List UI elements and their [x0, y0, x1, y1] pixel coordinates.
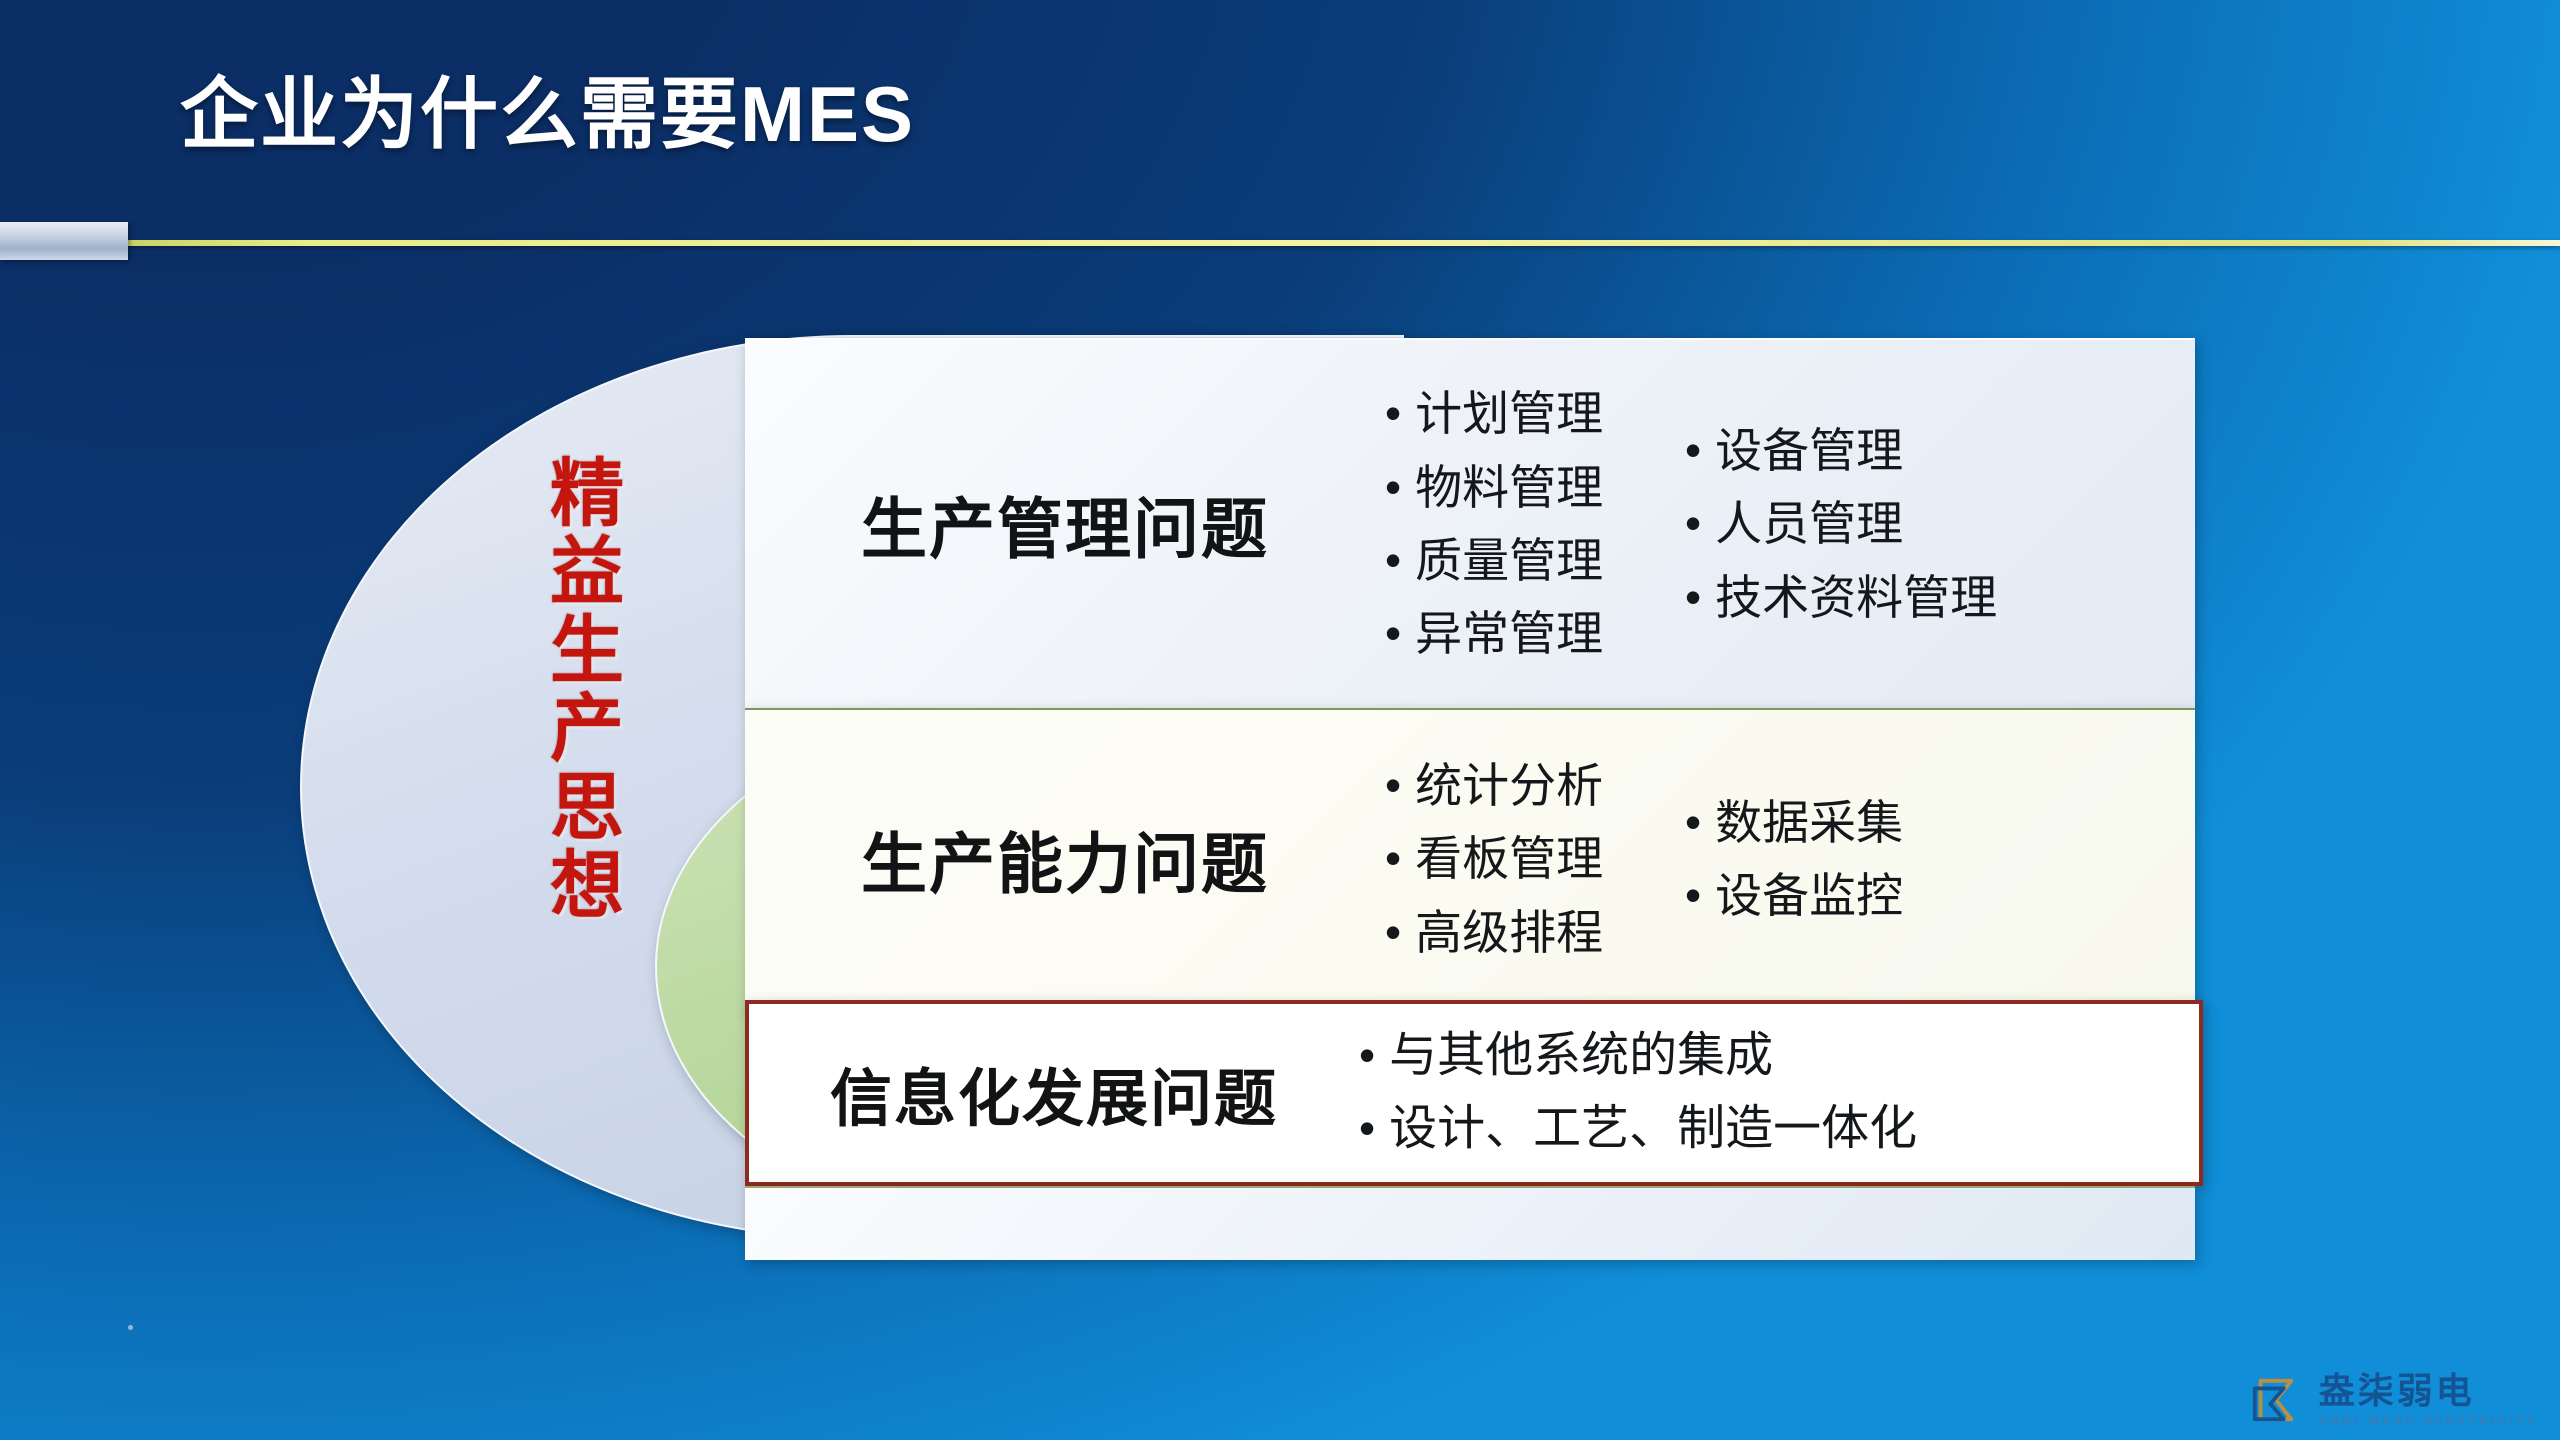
vertical-caption-char: 生	[522, 612, 652, 690]
page-title: 企业为什么需要MES	[180, 52, 915, 164]
list-item-label: 设计、工艺、制造一体化	[1389, 1101, 1917, 1158]
base-strip	[745, 1186, 2195, 1260]
list-item: •技术资料管理	[1685, 570, 2175, 625]
list-item: •异常管理	[1385, 606, 1685, 661]
row-production-capacity: 生产能力问题 •统计分析 •看板管理 •高级排程 •数据采集 •设备监控	[745, 708, 2195, 1010]
bullet-column-1: •统计分析 •看板管理 •高级排程	[1385, 749, 1685, 969]
decorative-dot	[128, 1325, 133, 1330]
list-item: •计划管理	[1385, 386, 1685, 441]
watermark-cn: 盎柒弱电	[2319, 1373, 2538, 1409]
list-item: •物料管理	[1385, 460, 1685, 515]
brand-logo-icon	[2247, 1375, 2305, 1425]
list-item-label: 人员管理	[1715, 496, 1903, 551]
bullet-dot-icon: •	[1359, 1030, 1375, 1081]
list-item: •数据采集	[1685, 795, 2175, 850]
vertical-caption-char: 益	[522, 533, 652, 611]
row-label: 生产管理问题	[745, 476, 1385, 572]
bullet-dot-icon: •	[1385, 760, 1401, 811]
list-item: •统计分析	[1385, 758, 1685, 813]
list-item: •设计、工艺、制造一体化	[1359, 1101, 2179, 1158]
bullet-column-2: •设备管理 •人员管理 •技术资料管理	[1685, 377, 2175, 671]
bullet-column-2: •数据采集 •设备监控	[1685, 749, 2175, 969]
list-item: •质量管理	[1385, 533, 1685, 588]
watermark: 盎柒弱电 ANQI WEAK ELECTRICITY	[2247, 1373, 2538, 1426]
bullet-dot-icon: •	[1685, 425, 1701, 476]
vertical-caption-char: 思	[522, 769, 652, 847]
list-item-label: 高级排程	[1415, 905, 1603, 960]
bullet-dot-icon: •	[1685, 870, 1701, 921]
bullet-dot-icon: •	[1385, 907, 1401, 958]
list-item: •与其他系统的集成	[1359, 1028, 2179, 1085]
row-bullets: •与其他系统的集成 •设计、工艺、制造一体化	[1359, 1020, 2199, 1165]
list-item-label: 数据采集	[1715, 795, 1903, 850]
slide-root: 企业为什么需要MES 精 益 生 产 思 想 生产管理问题 •计划管理 •物料管…	[0, 0, 2560, 1440]
row-bullets: •统计分析 •看板管理 •高级排程 •数据采集 •设备监控	[1385, 749, 2195, 969]
list-item-label: 计划管理	[1415, 386, 1603, 441]
vertical-caption-char: 精	[522, 455, 652, 533]
bullet-dot-icon: •	[1385, 608, 1401, 659]
bullet-dot-icon: •	[1685, 572, 1701, 623]
bullet-column-1: •计划管理 •物料管理 •质量管理 •异常管理	[1385, 377, 1685, 671]
list-item-label: 技术资料管理	[1715, 570, 1997, 625]
bullet-dot-icon: •	[1359, 1103, 1375, 1154]
list-item-label: 异常管理	[1415, 606, 1603, 661]
vertical-caption: 精 益 生 产 思 想	[522, 455, 652, 926]
row-informatization-development: 信息化发展问题 •与其他系统的集成 •设计、工艺、制造一体化	[745, 1000, 2203, 1186]
list-item: •设备管理	[1685, 423, 2175, 478]
divider-end-cap	[0, 222, 128, 260]
list-item: •高级排程	[1385, 905, 1685, 960]
list-item: •设备监控	[1685, 868, 2175, 923]
list-item-label: 看板管理	[1415, 831, 1603, 886]
bullet-dot-icon: •	[1385, 388, 1401, 439]
bullet-dot-icon: •	[1385, 462, 1401, 513]
bullet-dot-icon: •	[1685, 498, 1701, 549]
list-item: •人员管理	[1685, 496, 2175, 551]
list-item-label: 设备管理	[1715, 423, 1903, 478]
list-item-label: 设备监控	[1715, 868, 1903, 923]
row-label: 信息化发展问题	[749, 1048, 1359, 1138]
row-bullets: •计划管理 •物料管理 •质量管理 •异常管理 •设备管理 •人员管理 •技术资…	[1385, 377, 2195, 671]
title-divider	[0, 240, 2560, 246]
vertical-caption-char: 想	[522, 847, 652, 925]
bullet-column-1: •与其他系统的集成 •设计、工艺、制造一体化	[1359, 1020, 2179, 1165]
list-item-label: 与其他系统的集成	[1389, 1028, 1773, 1085]
list-item-label: 物料管理	[1415, 460, 1603, 515]
row-label: 生产能力问题	[745, 811, 1385, 907]
bullet-dot-icon: •	[1385, 535, 1401, 586]
bullet-dot-icon: •	[1385, 833, 1401, 884]
list-item: •看板管理	[1385, 831, 1685, 886]
row-production-management: 生产管理问题 •计划管理 •物料管理 •质量管理 •异常管理 •设备管理 •人员…	[745, 338, 2195, 708]
list-item-label: 质量管理	[1415, 533, 1603, 588]
list-item-label: 统计分析	[1415, 758, 1603, 813]
bullet-dot-icon: •	[1685, 797, 1701, 848]
watermark-en: ANQI WEAK ELECTRICITY	[2319, 1414, 2538, 1426]
vertical-caption-char: 产	[522, 690, 652, 768]
watermark-text: 盎柒弱电 ANQI WEAK ELECTRICITY	[2319, 1373, 2538, 1426]
